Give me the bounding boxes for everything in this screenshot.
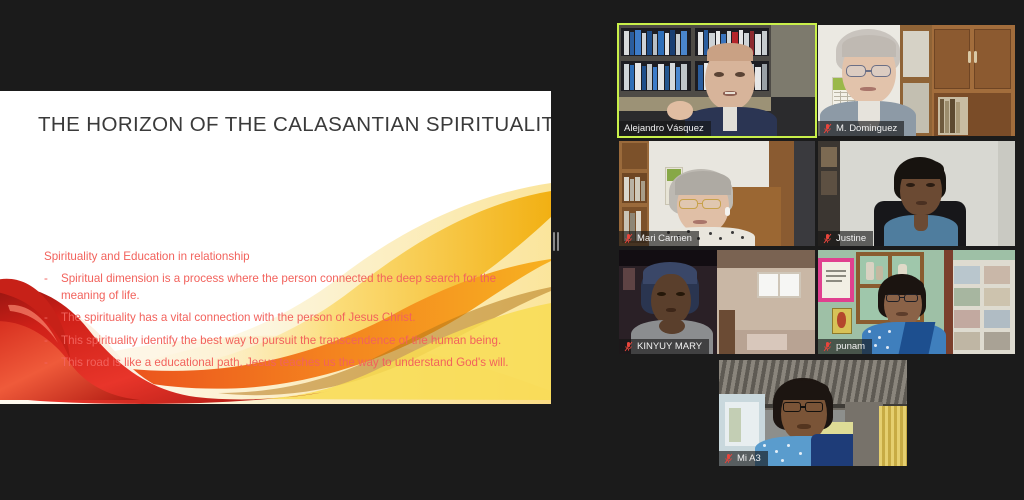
participant-name: Justine (836, 233, 866, 244)
participant-name: KINYUY MARY (637, 341, 702, 352)
slide-body: Spirituality and Education in relationsh… (44, 249, 519, 378)
bullet-marker: - (44, 310, 48, 326)
participant-tile-alejandro-vasquez[interactable]: Alejandro Vásquez (619, 25, 815, 136)
participant-name-label: punam (818, 339, 872, 354)
participant-tile-punam[interactable]: punam (818, 250, 1015, 354)
slide-bullet-item: - This spirituality identify the best wa… (44, 333, 519, 349)
participant-name: Alejandro Vásquez (624, 123, 704, 134)
bullet-text: The spirituality has a vital connection … (61, 311, 415, 324)
participant-name: punam (836, 341, 865, 352)
mic-muted-icon (724, 453, 733, 464)
slide-bullet-list: - Spiritual dimension is a process where… (44, 271, 519, 371)
participant-tile-kinyuy-mary[interactable]: KINYUY MARY (619, 250, 815, 354)
mic-muted-icon (823, 123, 832, 134)
slide-title: THE HORIZON OF THE CALASANTIAN SPIRITUAL… (38, 113, 538, 137)
mic-muted-icon (624, 233, 633, 244)
bullet-text: Spiritual dimension is a process where t… (61, 272, 496, 301)
shared-screen-slide[interactable]: THE HORIZON OF THE CALASANTIAN SPIRITUAL… (0, 91, 551, 404)
bullet-marker: - (44, 333, 48, 349)
bullet-marker: - (44, 271, 48, 287)
participant-name-label: Mi A3 (719, 451, 768, 466)
participant-name: Mi A3 (737, 453, 761, 464)
video-feed (818, 25, 1015, 136)
participant-tile-mi-a3[interactable]: Mi A3 (719, 360, 907, 466)
participant-name-label: M. Dominguez (818, 121, 904, 136)
mic-muted-icon (823, 341, 832, 352)
resize-handle-bar (553, 232, 555, 251)
panel-resize-handle[interactable] (552, 232, 559, 251)
resize-handle-bar (557, 232, 559, 251)
slide-bullet-item: - This road is like a educational path, … (44, 355, 519, 371)
mic-muted-icon (823, 233, 832, 244)
participant-name-label: Mari Carmen (619, 231, 699, 246)
bullet-text: This spirituality identify the best way … (61, 334, 501, 347)
mic-muted-icon (624, 341, 633, 352)
bullet-text: This road is like a educational path, Je… (61, 356, 509, 369)
participant-gallery: Alejandro Vásquez (617, 23, 1016, 468)
slide-canvas: THE HORIZON OF THE CALASANTIAN SPIRITUAL… (0, 91, 551, 404)
slide-lead-text: Spirituality and Education in relationsh… (44, 249, 519, 265)
slide-bullet-item: - The spirituality has a vital connectio… (44, 310, 519, 326)
participant-name-label: Justine (818, 231, 873, 246)
participant-tile-m-dominguez[interactable]: M. Dominguez (818, 25, 1015, 136)
bullet-marker: - (44, 355, 48, 371)
participant-name-label: KINYUY MARY (619, 339, 709, 354)
participant-name: M. Dominguez (836, 123, 897, 134)
video-feed (619, 25, 815, 136)
participant-tile-justine[interactable]: Justine (818, 141, 1015, 246)
participant-name-label: Alejandro Vásquez (619, 121, 711, 136)
slide-bullet-item: - Spiritual dimension is a process where… (44, 271, 519, 304)
zoom-meeting-window: THE HORIZON OF THE CALASANTIAN SPIRITUAL… (0, 0, 1024, 500)
participant-name: Mari Carmen (637, 233, 692, 244)
participant-tile-mari-carmen[interactable]: Mari Carmen (619, 141, 815, 246)
